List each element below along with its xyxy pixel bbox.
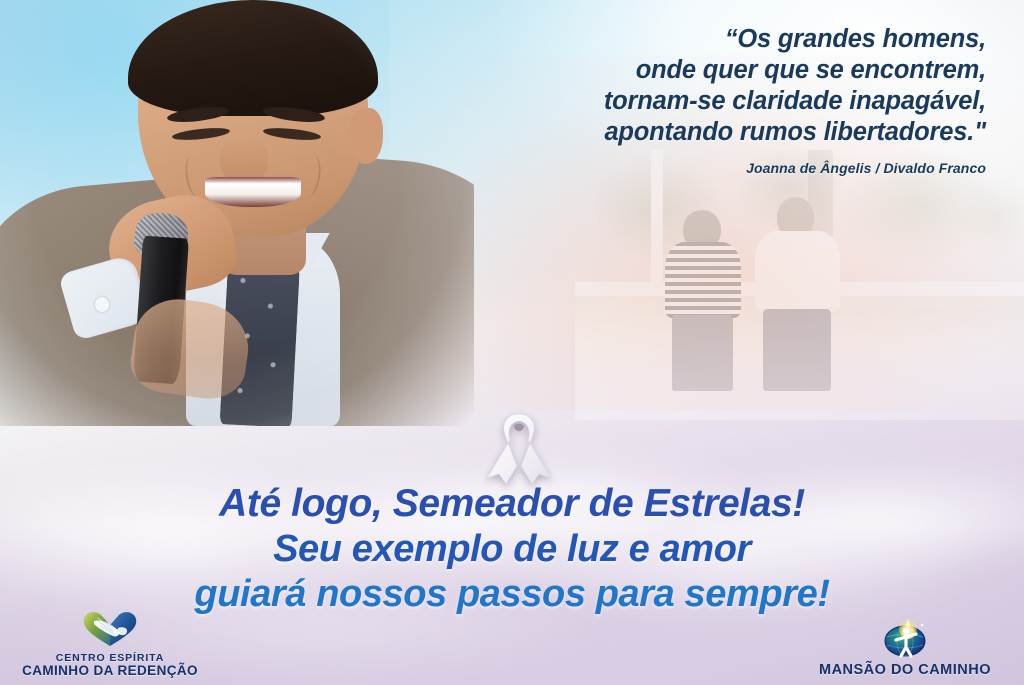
globe-figure-icon	[877, 616, 933, 663]
logo-left-line-2: CAMINHO DA REDENÇÃO	[22, 664, 198, 679]
cuff-button	[95, 297, 109, 312]
quote-line-4: apontando rumos libertadores."	[426, 117, 986, 148]
figure-legs	[672, 315, 733, 391]
figure-torso	[665, 242, 741, 318]
hair	[128, 0, 378, 116]
quote-line-1: “Os grandes homens,	[426, 24, 986, 55]
logo-right-line-2: MANSÃO DO CAMINHO	[819, 663, 991, 679]
smiling-mouth	[205, 177, 301, 207]
headline-line-2: Seu exemplo de luz e amor	[28, 530, 996, 568]
white-ribbon-icon	[484, 408, 554, 488]
portrait-photo	[0, 0, 474, 426]
background-figure-white-shirt	[755, 231, 840, 388]
quote-author: Joanna de Ângelis / Divaldo Franco	[426, 160, 986, 176]
headline-block: Até logo, Semeador de Estrelas! Seu exem…	[0, 484, 1024, 613]
figure-torso	[755, 231, 840, 312]
headline-line-1: Até logo, Semeador de Estrelas!	[28, 484, 996, 523]
ear	[349, 108, 383, 164]
logo-left-text: CENTRO ESPÍRITA CAMINHO DA REDENÇÃO	[22, 653, 198, 679]
quote-line-3: tornam-se claridade inapagável,	[426, 86, 986, 117]
quote-line-2: onde quer que se encontrem,	[426, 55, 986, 86]
logo-mansao-do-caminho[interactable]: MANSÃO DO CAMINHO	[798, 616, 1012, 679]
logo-centro-espirita-caminho-da-redencao[interactable]: CENTRO ESPÍRITA CAMINHO DA REDENÇÃO	[12, 608, 208, 679]
memorial-poster: “Os grandes homens, onde quer que se enc…	[0, 0, 1024, 685]
hands-heart-icon	[78, 608, 142, 653]
quote-block: “Os grandes homens, onde quer que se enc…	[426, 24, 986, 176]
figure-legs	[763, 309, 831, 390]
logo-right-text: MANSÃO DO CAMINHO	[819, 663, 991, 679]
background-figure-striped-shirt	[665, 242, 741, 388]
portrait-fade-mask	[0, 0, 474, 426]
background-photo-two-figures	[575, 150, 1024, 420]
